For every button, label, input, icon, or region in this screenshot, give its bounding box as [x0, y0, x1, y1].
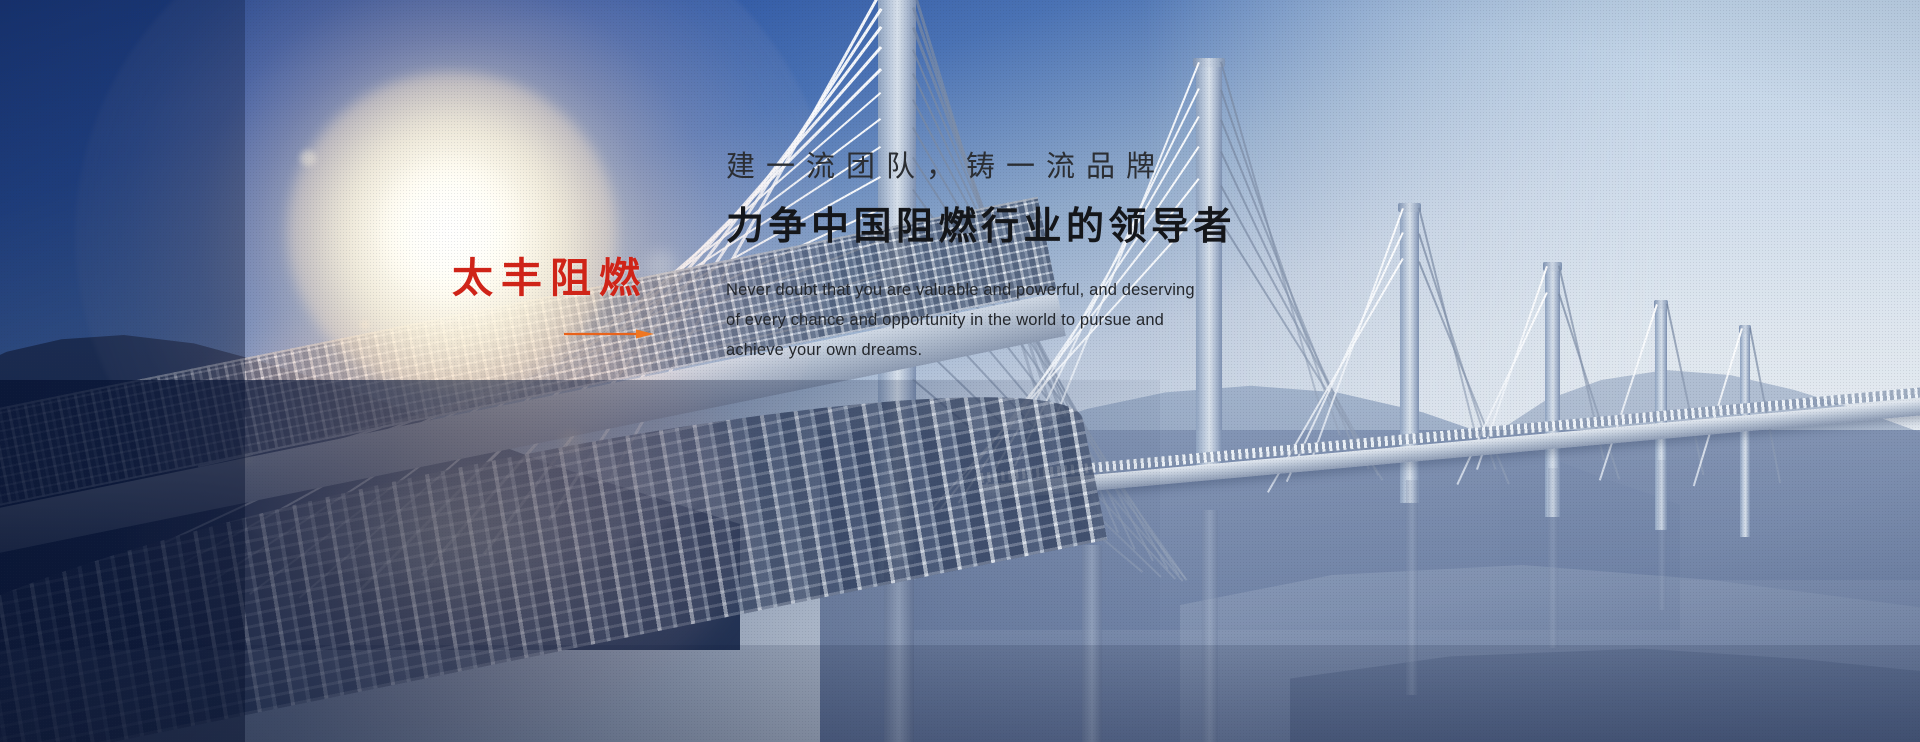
arrow-right-icon: [564, 328, 654, 340]
banner-content: 太丰阻燃 建一流团队，铸一流品牌 力争中国阻燃行业的领导者 Never doub…: [0, 0, 1920, 742]
paragraph-line-3: achieve your own dreams.: [726, 335, 1486, 365]
brand-logo[interactable]: 太丰阻燃: [452, 258, 682, 299]
banner-headline: 力争中国阻燃行业的领导者: [726, 203, 1486, 251]
hero-banner: 太丰阻燃 建一流团队，铸一流品牌 力争中国阻燃行业的领导者 Never doub…: [0, 0, 1920, 742]
paragraph-line-1: Never doubt that you are valuable and po…: [726, 275, 1486, 305]
banner-paragraph: Never doubt that you are valuable and po…: [726, 275, 1486, 366]
headline-block: 建一流团队，铸一流品牌 力争中国阻燃行业的领导者 Never doubt tha…: [726, 148, 1486, 366]
banner-subtitle: 建一流团队，铸一流品牌: [726, 148, 1486, 185]
paragraph-line-2: of every chance and opportunity in the w…: [726, 305, 1486, 335]
brand-logo-text: 太丰阻燃: [452, 258, 682, 299]
